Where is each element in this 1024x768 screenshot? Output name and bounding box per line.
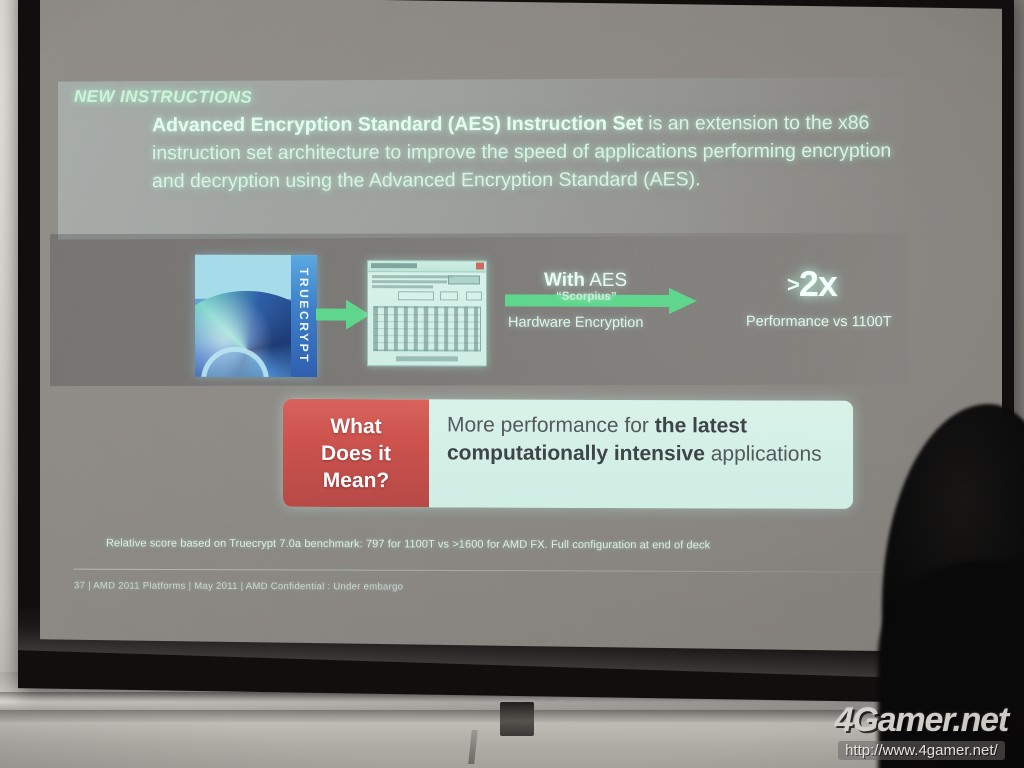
arrow-right-icon	[316, 300, 370, 330]
callout-answer-post: applications	[705, 442, 822, 465]
slide-kicker-title: NEW INSTRUCTIONS	[74, 87, 252, 108]
photo-scene: NEW INSTRUCTIONS Advanced Encryption Sta…	[0, 0, 1024, 768]
callout-question-panel: What Does it Mean?	[283, 399, 429, 508]
dialog-fields	[374, 291, 480, 299]
callout-line-2: Does it	[321, 439, 391, 466]
slide-body-paragraph: Advanced Encryption Standard (AES) Instr…	[152, 109, 912, 196]
callout-answer-panel: More performance for the latest computat…	[429, 399, 853, 508]
slide-body-lead: Advanced Encryption Standard (AES) Instr…	[152, 113, 643, 137]
callout-line-1: What	[321, 412, 391, 439]
what-does-it-mean-callout: What Does it Mean? More performance for …	[283, 399, 853, 509]
truecrypt-benchmark-dialog	[367, 260, 487, 366]
slide-content: NEW INSTRUCTIONS Advanced Encryption Sta…	[40, 0, 1002, 647]
footer-divider	[74, 569, 904, 573]
callout-answer-pre: More performance for	[447, 413, 655, 437]
watermark-logo: 4Gamer.net	[835, 702, 1008, 738]
dialog-results-grid	[373, 306, 481, 351]
dialog-footer-note	[396, 356, 458, 361]
metric-value: 2x	[799, 263, 837, 304]
slide-footer-meta: 37 | AMD 2011 Platforms | May 2011 | AMD…	[74, 580, 403, 592]
truecrypt-spine: TRUECRYPT	[291, 255, 317, 377]
codename-label: “Scorpius”	[556, 291, 617, 303]
arrow-right-green-small	[316, 300, 370, 330]
slide-footnote: Relative score based on Truecrypt 7.0a b…	[106, 537, 710, 551]
watermark-url: http://www.4gamer.net/	[838, 741, 1005, 760]
truecrypt-box-art: TRUECRYPT	[195, 255, 317, 377]
dialog-title-text	[371, 263, 417, 268]
rail-clip	[500, 702, 534, 736]
truecrypt-spine-label: TRUECRYPT	[297, 268, 311, 364]
projection-surface: NEW INSTRUCTIONS Advanced Encryption Sta…	[40, 0, 1002, 653]
metric-prefix: >	[787, 272, 799, 297]
performance-metric-caption: Performance vs 1100T	[746, 314, 892, 331]
hardware-encryption-label: Hardware Encryption	[508, 315, 643, 331]
callout-line-3: Mean?	[321, 466, 391, 493]
performance-metric: >2x	[787, 263, 837, 305]
dialog-titlebar	[368, 261, 486, 272]
close-icon	[476, 262, 484, 269]
with-aes-thin: AES	[585, 270, 627, 291]
with-aes-label: With AES	[544, 270, 627, 292]
presentation-slide: NEW INSTRUCTIONS Advanced Encryption Sta…	[40, 0, 1002, 653]
watermark: 4Gamer.net http://www.4gamer.net/	[835, 702, 1008, 760]
with-aes-bold: With	[544, 270, 585, 291]
dialog-benchmark-button	[448, 275, 480, 284]
